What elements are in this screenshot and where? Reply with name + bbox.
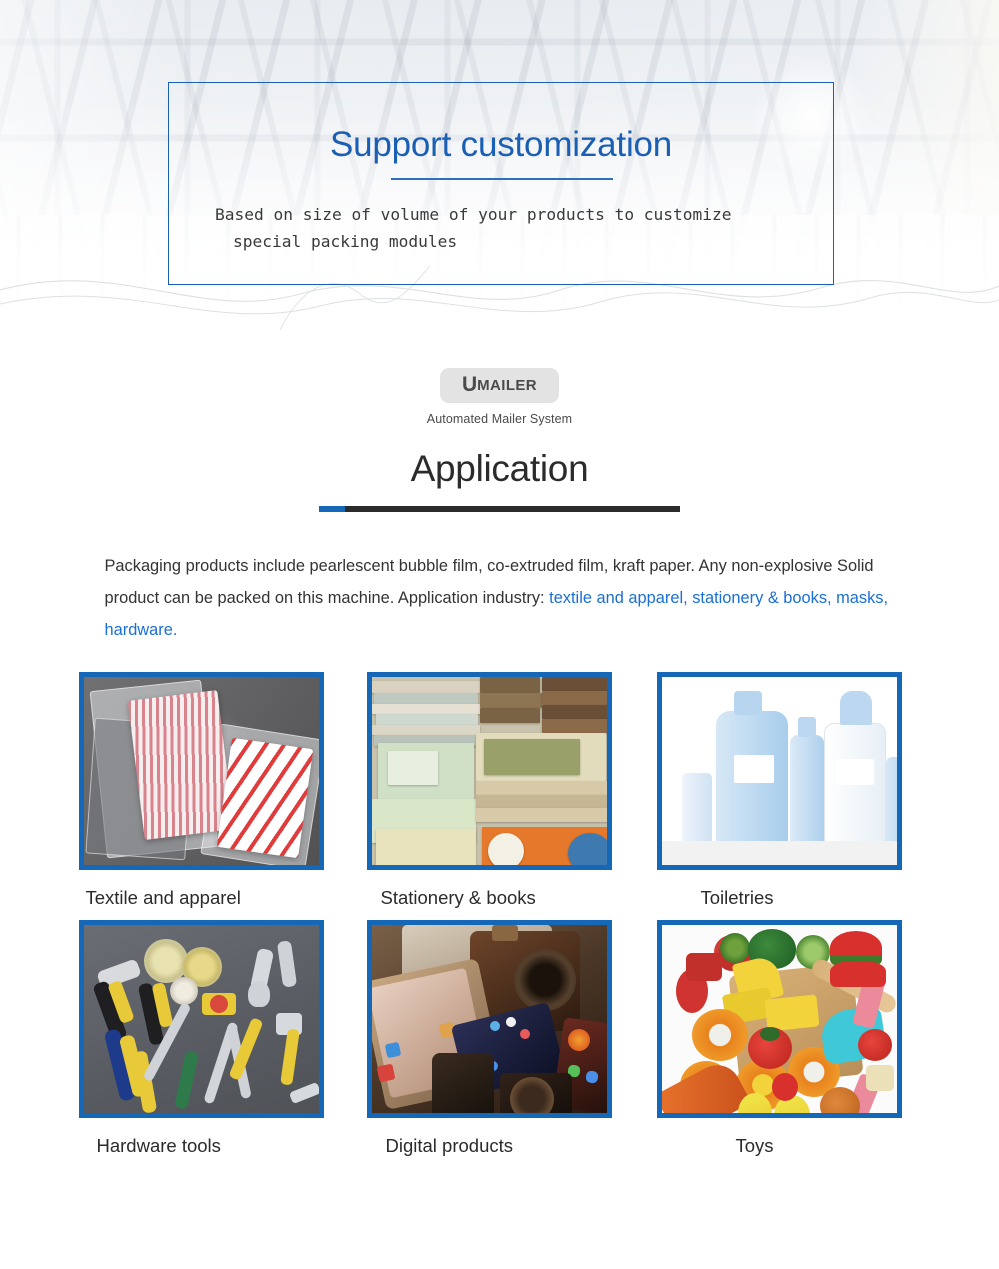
brand-logo-block: UMAILER Automated Mailer System [0, 368, 999, 426]
banner-title-rule [391, 178, 613, 180]
thumbnail-frame[interactable] [657, 672, 902, 870]
section-title: Application [0, 448, 999, 490]
gallery-item-textile[interactable]: Textile and apparel [77, 672, 359, 909]
gallery-item-toiletries[interactable]: Toiletries [641, 672, 923, 909]
stacked-books-photo [372, 677, 607, 865]
camera-tablet-phones-photo [372, 925, 607, 1113]
wooden-toy-fruits-photo [662, 925, 897, 1113]
banner-outline-box: Support customization Based on size of v… [168, 82, 834, 285]
gallery-caption: Digital products [386, 1135, 641, 1157]
hand-tools-photo [84, 925, 319, 1113]
logo-wordmark: MAILER [477, 377, 537, 394]
gallery-caption: Hardware tools [97, 1135, 359, 1157]
section-underline [319, 506, 680, 512]
intro-paragraph: Packaging products include pearlescent b… [105, 550, 895, 646]
gallery-row: Hardware tools [77, 920, 923, 1157]
logo-tagline: Automated Mailer System [0, 412, 999, 426]
thumbnail-frame[interactable] [367, 672, 612, 870]
shirts-in-poly-bags-photo [84, 677, 319, 865]
thumbnail-frame[interactable] [79, 920, 324, 1118]
gallery-row: Textile and apparel [77, 672, 923, 909]
thumbnail-frame[interactable] [367, 920, 612, 1118]
banner-subtitle-line2: special packing modules [215, 228, 835, 255]
gallery-item-hardware[interactable]: Hardware tools [77, 920, 359, 1157]
section-underline-accent [319, 506, 345, 512]
gallery-caption: Toiletries [701, 887, 923, 909]
banner-subtitle-line1: Based on size of volume of your products… [215, 205, 732, 224]
red-striped-shirt [127, 690, 233, 840]
application-gallery: Textile and apparel [77, 672, 923, 1157]
red-white-striped-fabric [216, 738, 313, 858]
gallery-item-digital[interactable]: Digital products [359, 920, 641, 1157]
banner-subtitle: Based on size of volume of your products… [215, 201, 835, 255]
baby-care-bottles-photo [662, 677, 897, 865]
gallery-caption: Toys [736, 1135, 923, 1157]
banner-title: Support customization [169, 127, 833, 162]
gallery-caption: Textile and apparel [86, 887, 359, 909]
hero-banner: Support customization Based on size of v… [0, 0, 999, 330]
gallery-caption: Stationery & books [381, 887, 641, 909]
logo-badge: UMAILER [440, 368, 559, 403]
gallery-item-stationery[interactable]: Stationery & books [359, 672, 641, 909]
thumbnail-frame[interactable] [79, 672, 324, 870]
gallery-item-toys[interactable]: Toys [641, 920, 923, 1157]
logo-initial: U [462, 373, 477, 396]
thumbnail-frame[interactable] [657, 920, 902, 1118]
